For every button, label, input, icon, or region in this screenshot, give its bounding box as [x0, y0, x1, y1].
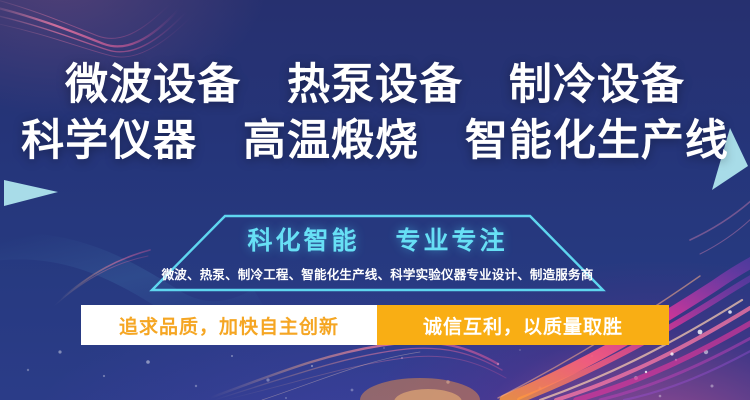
- subtitle-frame: 科化智能 专业专注 微波、热泵、制冷工程、智能化生产线、科学实验仪器专业设计、制…: [145, 210, 610, 296]
- cta-button-row: 追求品质，加快自主创新 诚信互利，以质量取胜: [81, 305, 669, 345]
- promo-banner: 微波设备 热泵设备 制冷设备 科学仪器 高温煅烧 智能化生产线 科化智能 专业专…: [0, 0, 750, 400]
- headline-block: 微波设备 热泵设备 制冷设备 科学仪器 高温煅烧 智能化生产线: [0, 58, 750, 170]
- subtitle-cyan-right: 专业专注: [395, 227, 507, 255]
- subtitle-cyan-left: 科化智能: [248, 227, 360, 255]
- headline-line1-seg1: 微波设备: [65, 58, 241, 114]
- headline-line-2: 科学仪器 高温煅烧 智能化生产线: [0, 114, 750, 170]
- subtitle-description: 微波、热泵、制冷工程、智能化生产线、科学实验仪器专业设计、制造服务商: [145, 264, 610, 283]
- headline-line2-seg1: 科学仪器: [21, 114, 197, 170]
- headline-line1-seg2: 热泵设备: [287, 58, 463, 114]
- integrity-slogan-button[interactable]: 诚信互利，以质量取胜: [377, 305, 669, 345]
- headline-line1-seg3: 制冷设备: [509, 58, 685, 114]
- quality-slogan-button[interactable]: 追求品质，加快自主创新: [81, 305, 377, 345]
- headline-line2-seg2: 高温煅烧: [243, 114, 419, 170]
- headline-line-1: 微波设备 热泵设备 制冷设备: [0, 58, 750, 114]
- headline-line2-seg3: 智能化生产线: [465, 114, 729, 170]
- subtitle-cyan: 科化智能 专业专注: [145, 221, 610, 257]
- triangle-right-icon: [2, 176, 60, 208]
